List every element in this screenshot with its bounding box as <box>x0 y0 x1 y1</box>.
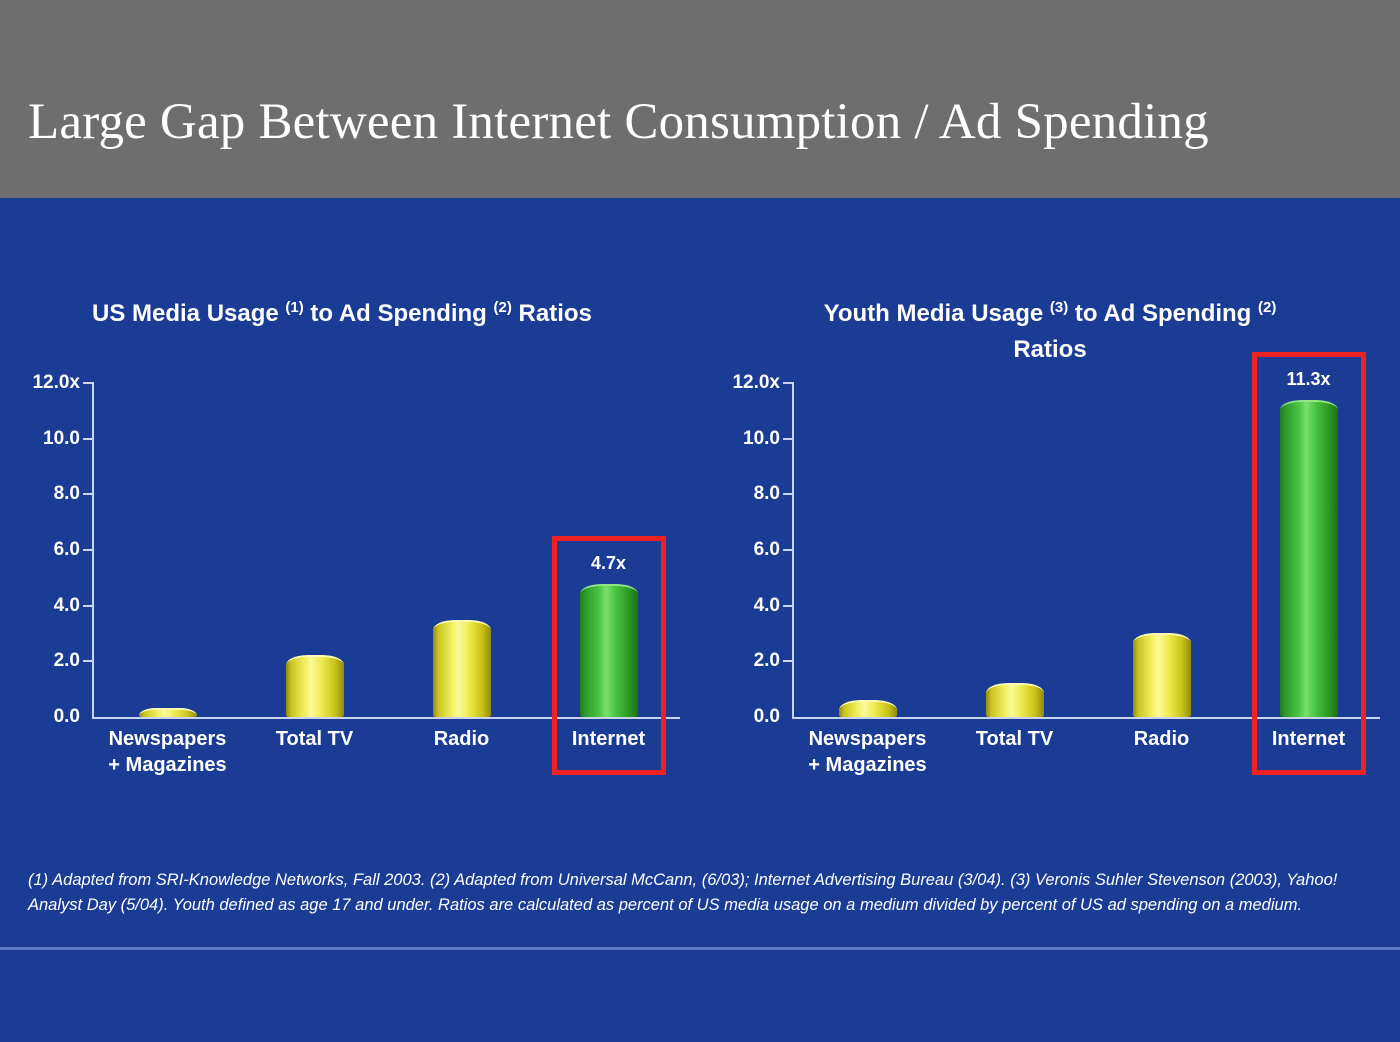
y-tick-label: 4.0 <box>754 595 780 617</box>
bar-slot <box>941 383 1088 717</box>
y-axis-tick <box>83 549 94 551</box>
x-axis-line-right <box>792 717 1380 719</box>
bar-group-left: 4.7x <box>94 383 682 717</box>
x-tick-label: Internet <box>1235 726 1382 752</box>
bar-slot: 4.7x <box>535 383 682 717</box>
chart-panel-youth-media-usage: Youth Media Usage (3) to Ad Spending (2)… <box>700 198 1400 844</box>
bar-radio <box>433 620 491 717</box>
y-axis-tick <box>783 549 794 551</box>
x-tick-label: Newspapers+ Magazines <box>94 726 241 778</box>
y-axis-labels-left: 0.02.04.06.08.010.012.0x <box>0 198 80 844</box>
bar-slot <box>94 383 241 717</box>
bar-value-label: 11.3x <box>1286 369 1330 390</box>
bar-slot <box>241 383 388 717</box>
bar-slot <box>1088 383 1235 717</box>
x-tick-label: Total TV <box>241 726 388 752</box>
y-tick-label: 12.0x <box>732 372 780 394</box>
bar-slot <box>388 383 535 717</box>
slide-body: US Media Usage (1) to Ad Spending (2) Ra… <box>0 198 1400 844</box>
y-axis-tick <box>783 660 794 662</box>
x-tick-label: Radio <box>1088 726 1235 752</box>
y-tick-label: 0.0 <box>54 706 80 728</box>
slide: Large Gap Between Internet Consumption /… <box>0 0 1400 1042</box>
chart-panel-us-media-usage: US Media Usage (1) to Ad Spending (2) Ra… <box>0 198 700 844</box>
plot-area-us-media-usage: 0.02.04.06.08.010.012.0x 4.7x Newspapers… <box>92 198 687 844</box>
y-tick-label: 2.0 <box>754 650 780 672</box>
y-tick-label: 2.0 <box>54 650 80 672</box>
slide-header-band: Large Gap Between Internet Consumption /… <box>0 0 1400 198</box>
y-axis-tick <box>83 438 94 440</box>
y-axis-tick <box>783 438 794 440</box>
bar-total-tv <box>286 655 344 717</box>
x-tick-label: Internet <box>535 726 682 752</box>
y-tick-label: 8.0 <box>54 483 80 505</box>
bar-total-tv <box>986 683 1044 717</box>
x-axis-labels-right: Newspapers+ MagazinesTotal TVRadioIntern… <box>794 726 1382 816</box>
y-tick-label: 6.0 <box>754 539 780 561</box>
x-axis-labels-left: Newspapers+ MagazinesTotal TVRadioIntern… <box>94 726 682 816</box>
x-axis-line-left <box>92 717 680 719</box>
bar-newspapers-magazines <box>839 700 897 717</box>
footnote-text: (1) Adapted from SRI-Knowledge Networks,… <box>28 868 1370 918</box>
y-tick-label: 12.0x <box>32 372 80 394</box>
plot-area-youth-media-usage: 0.02.04.06.08.010.012.0x 11.3x Newspaper… <box>792 198 1387 844</box>
bar-internet <box>1280 400 1338 717</box>
y-axis-tick <box>83 493 94 495</box>
bar-radio <box>1133 633 1191 717</box>
y-tick-label: 6.0 <box>54 539 80 561</box>
y-axis-labels-right: 0.02.04.06.08.010.012.0x <box>700 198 780 844</box>
y-tick-label: 10.0 <box>43 428 80 450</box>
y-axis-tick <box>83 660 94 662</box>
y-axis-tick <box>83 382 94 384</box>
bar-newspapers-magazines <box>139 708 197 717</box>
y-tick-label: 4.0 <box>54 595 80 617</box>
bar-slot <box>794 383 941 717</box>
y-axis-tick <box>83 605 94 607</box>
y-axis-tick <box>783 493 794 495</box>
y-tick-label: 8.0 <box>754 483 780 505</box>
x-tick-label: Newspapers+ Magazines <box>794 726 941 778</box>
y-axis-tick <box>783 382 794 384</box>
bar-slot: 11.3x <box>1235 383 1382 717</box>
bar-group-right: 11.3x <box>794 383 1382 717</box>
bar-value-label: 4.7x <box>591 553 626 574</box>
slide-footer: MorganStanley 43 Yourseeker <box>0 950 1400 1042</box>
bar-internet <box>580 584 638 717</box>
slide-title: Large Gap Between Internet Consumption /… <box>28 92 1209 152</box>
y-tick-label: 10.0 <box>743 428 780 450</box>
y-axis-tick <box>783 605 794 607</box>
y-tick-label: 0.0 <box>754 706 780 728</box>
x-tick-label: Radio <box>388 726 535 752</box>
x-tick-label: Total TV <box>941 726 1088 752</box>
